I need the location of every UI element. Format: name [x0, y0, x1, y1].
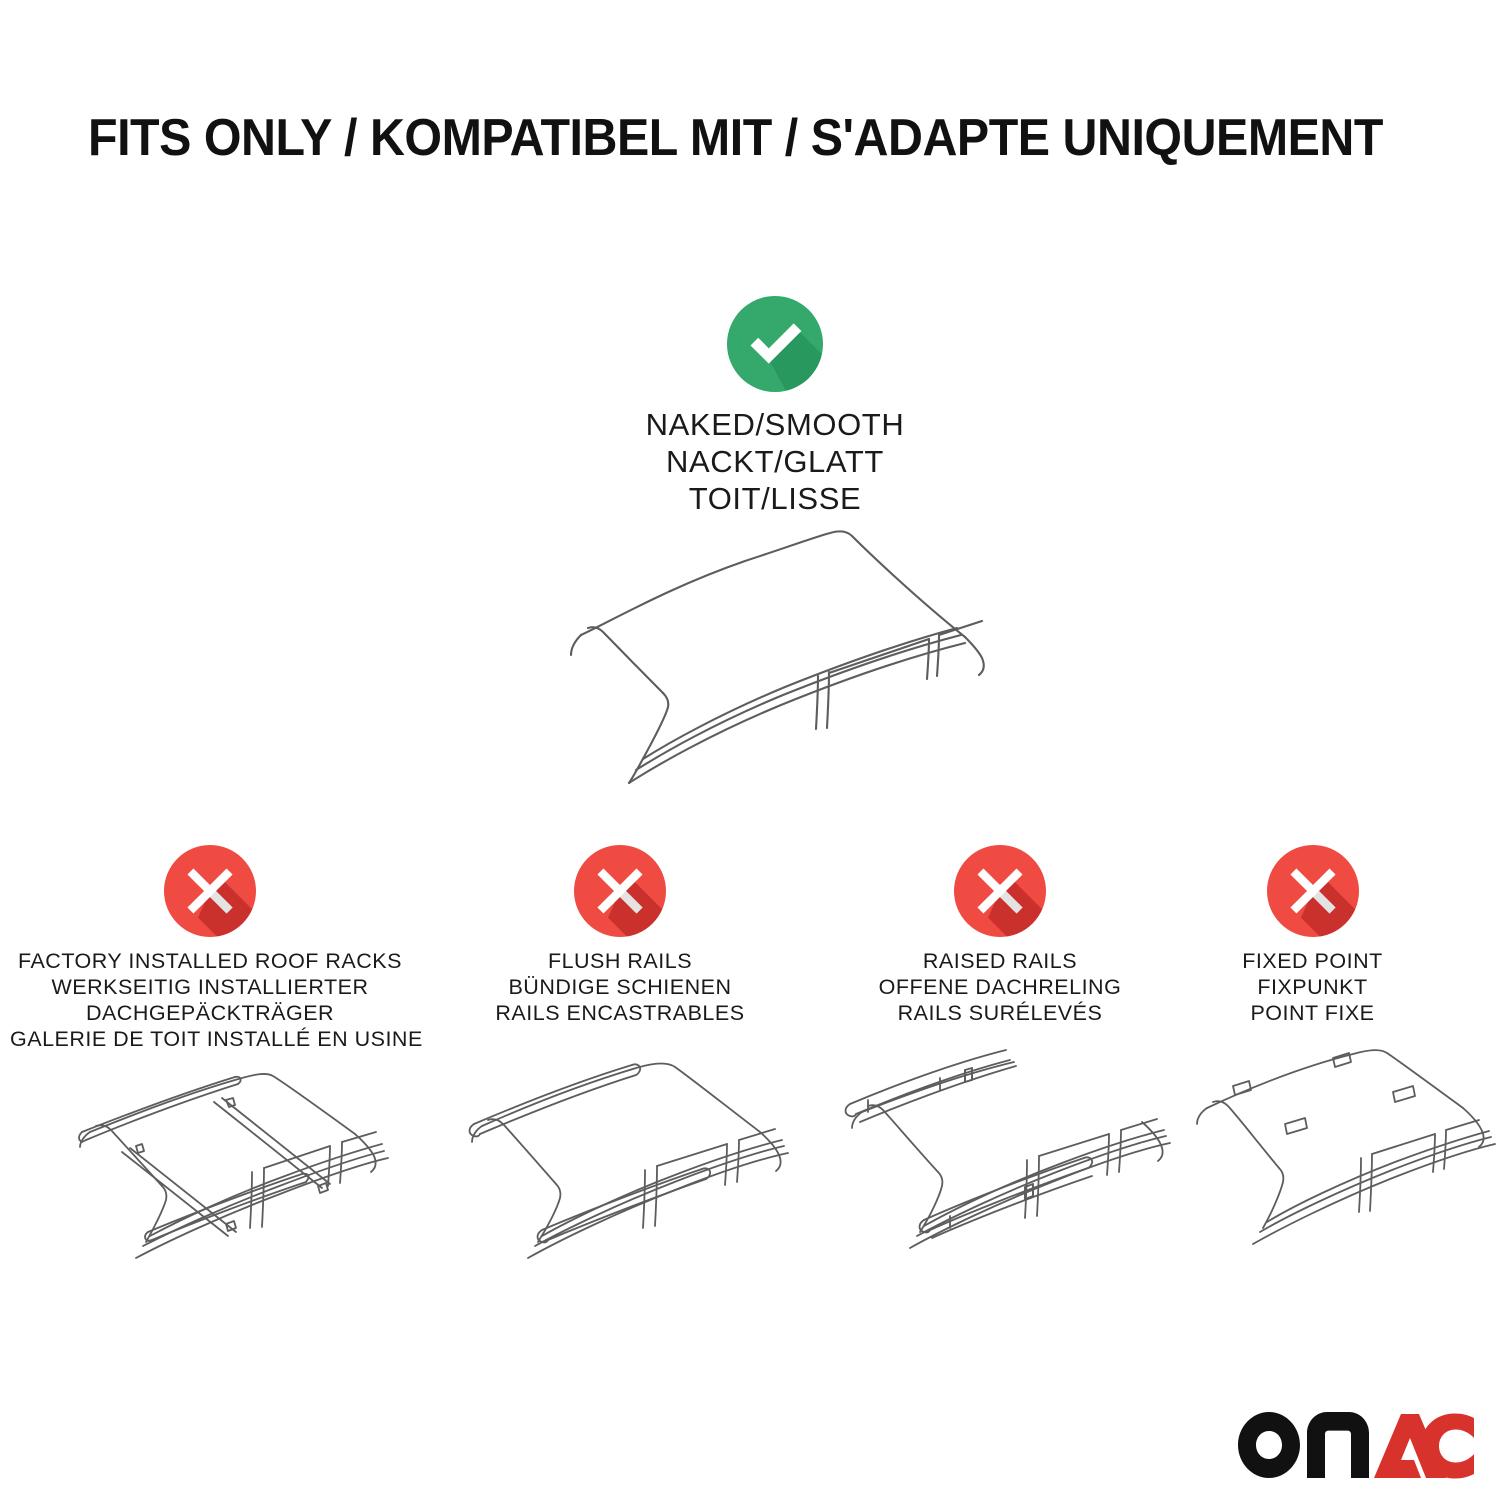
- car-roof-factory-racks-illustration: [30, 1060, 440, 1300]
- label-de: OFFENE DACHRELING: [805, 974, 1195, 1000]
- fits-label-de: NACKT/GLATT: [470, 443, 1080, 480]
- logo-om-black: [1238, 1412, 1369, 1478]
- label-en: FACTORY INSTALLED ROOF RACKS: [10, 948, 410, 974]
- omac-logo: [1238, 1412, 1474, 1478]
- label-group: FLUSH RAILS BÜNDIGE SCHIENEN RAILS ENCAS…: [425, 948, 815, 1026]
- check-circle-icon: [727, 296, 823, 392]
- fits-column: NAKED/SMOOTH NACKT/GLATT TOIT/LISSE: [470, 296, 1080, 517]
- label-de-line2: DACHGEPÄCKTRÄGER: [10, 1000, 410, 1026]
- incompatible-column-raised-rails: RAISED RAILS OFFENE DACHRELING RAILS SUR…: [805, 845, 1195, 1026]
- cross-circle-icon: [574, 845, 666, 937]
- label-en: FIXED POINT: [1185, 948, 1440, 974]
- fits-label-fr: TOIT/LISSE: [470, 480, 1080, 517]
- label-group: FACTORY INSTALLED ROOF RACKS WERKSEITIG …: [10, 948, 410, 1052]
- label-fr: POINT FIXE: [1185, 1000, 1440, 1026]
- label-fr: GALERIE DE TOIT INSTALLÉ EN USINE: [10, 1026, 410, 1052]
- label-de: BÜNDIGE SCHIENEN: [425, 974, 815, 1000]
- cross-circle-icon: [1267, 845, 1359, 937]
- car-roof-naked-smooth-illustration: [495, 515, 1065, 805]
- label-en: RAISED RAILS: [805, 948, 1195, 974]
- roof-illustration-row: [0, 1060, 1500, 1300]
- cross-circle-icon: [164, 845, 256, 937]
- fits-label-group: NAKED/SMOOTH NACKT/GLATT TOIT/LISSE: [470, 406, 1080, 517]
- label-en: FLUSH RAILS: [425, 948, 815, 974]
- incompatible-column-flush-rails: FLUSH RAILS BÜNDIGE SCHIENEN RAILS ENCAS…: [425, 845, 815, 1026]
- label-fr: RAILS ENCASTRABLES: [425, 1000, 815, 1026]
- car-roof-flush-rails-illustration: [430, 1060, 830, 1300]
- cross-circle-icon: [954, 845, 1046, 937]
- fits-label-en: NAKED/SMOOTH: [470, 406, 1080, 443]
- logo-ac-red: [1374, 1414, 1474, 1479]
- incompatible-column-fixed-point: FIXED POINT FIXPUNKT POINT FIXE: [1185, 845, 1440, 1026]
- label-group: FIXED POINT FIXPUNKT POINT FIXE: [1185, 948, 1440, 1026]
- page-title: FITS ONLY / KOMPATIBEL MIT / S'ADAPTE UN…: [88, 108, 1325, 168]
- label-de-line1: WERKSEITIG INSTALLIERTER: [10, 974, 410, 1000]
- compatibility-diagram: FITS ONLY / KOMPATIBEL MIT / S'ADAPTE UN…: [0, 0, 1500, 1500]
- label-de: FIXPUNKT: [1185, 974, 1440, 1000]
- incompatible-column-factory-racks: FACTORY INSTALLED ROOF RACKS WERKSEITIG …: [10, 845, 410, 1052]
- label-fr: RAILS SURÉLEVÉS: [805, 1000, 1195, 1026]
- car-roof-raised-rails-illustration: [820, 1060, 1220, 1300]
- label-group: RAISED RAILS OFFENE DACHRELING RAILS SUR…: [805, 948, 1195, 1026]
- car-roof-fixed-point-illustration: [1185, 1060, 1500, 1300]
- incompatible-row: FACTORY INSTALLED ROOF RACKS WERKSEITIG …: [0, 845, 1500, 1065]
